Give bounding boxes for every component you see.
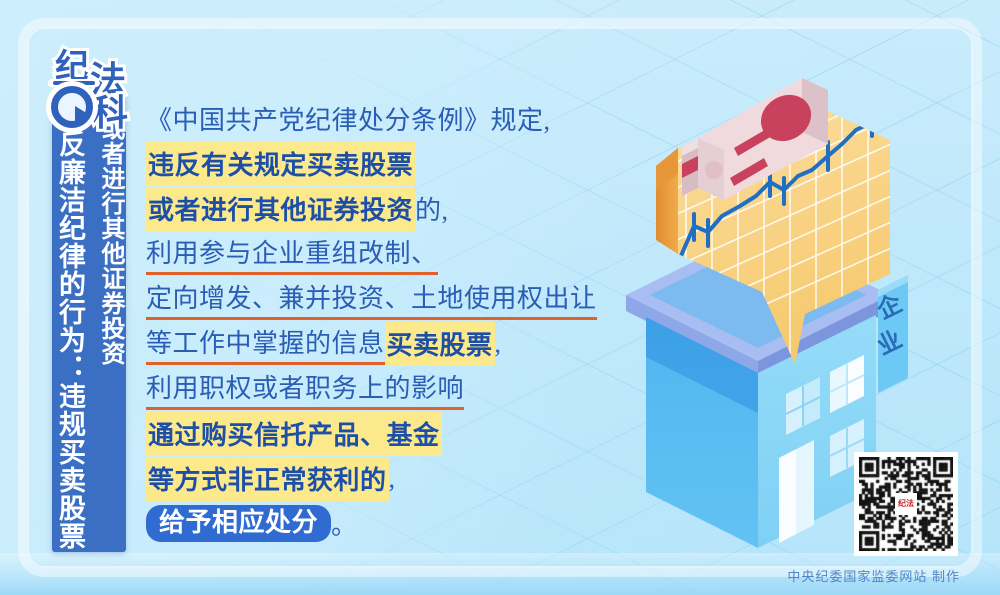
body-text-segment-plain: , [495, 329, 502, 359]
play-circle-icon [51, 86, 93, 128]
logo-blue-bar [53, 81, 95, 85]
side-title-panel: 违反廉洁纪律的行为：违规买卖股票 或者进行其他证券投资 [52, 92, 126, 552]
poster-canvas: 违反廉洁纪律的行为：违规买卖股票 或者进行其他证券投资 纪 法 科 《中国共产党… [0, 0, 1000, 595]
body-text-segment-plain: 《中国共产党纪律处分条例》规定, [146, 100, 551, 137]
body-text-segment-ul: 等工作中掌握的信息 [146, 323, 385, 365]
play-triangle-icon [75, 106, 88, 122]
side-panel-main-title: 违反廉洁纪律的行为：违规买卖股票 [56, 102, 83, 550]
body-text-line: 给予相应处分 。 [146, 501, 616, 546]
body-text-segment-ul: 定向增发、兼并投资、土地使用权出让 [146, 278, 597, 320]
body-text-block: 《中国共产党纪律处分条例》规定,违反有关规定买卖股票或者进行其他证券投资 的,利… [146, 96, 616, 546]
body-text-line: 利用职权或者职务上的影响 [146, 366, 616, 411]
body-text-segment-hl: 或者进行其他证券投资 [146, 187, 415, 231]
body-text-segment-hl: 买卖股票 [385, 322, 495, 366]
body-text-line: 利用参与企业重组改制、 [146, 231, 616, 276]
body-text-segment-pill: 给予相应处分 [146, 505, 331, 542]
body-text-line: 等方式非正常获利的 , [146, 456, 616, 501]
body-text-line: 违反有关规定买卖股票 [146, 141, 616, 186]
footer-credit: 中央纪委国家监委网站 制作 [787, 566, 960, 585]
body-text-line: 《中国共产党纪律处分条例》规定, [146, 96, 616, 141]
body-text-segment-plain: , [389, 464, 396, 494]
body-text-line: 通过购买信托产品、基金 [146, 411, 616, 456]
logo-char-ke: 科 [92, 95, 128, 131]
body-text-segment-hl: 通过购买信托产品、基金 [146, 412, 442, 456]
qr-code[interactable]: 纪法 [854, 452, 958, 556]
body-text-segment-hl: 等方式非正常获利的 [146, 457, 389, 501]
body-text-line: 等工作中掌握的信息买卖股票 , [146, 321, 616, 366]
side-panel-sub-title: 或者进行其他证券投资 [98, 116, 122, 366]
body-text-segment-plain: 的, [415, 190, 449, 227]
body-text-line: 定向增发、兼并投资、土地使用权出让 [146, 276, 616, 321]
body-text-segment-ul: 利用参与企业重组改制、 [146, 233, 438, 275]
body-text-segment-plain: 。 [331, 505, 358, 542]
body-text-segment-hl: 违反有关规定买卖股票 [146, 142, 415, 186]
qr-center-logo: 纪法 [895, 493, 917, 515]
body-text-segment-ul: 利用职权或者职务上的影响 [146, 368, 464, 410]
brand-logo: 纪 法 科 [46, 46, 138, 132]
building-door-glass [779, 449, 796, 543]
body-text-line: 或者进行其他证券投资 的, [146, 186, 616, 231]
